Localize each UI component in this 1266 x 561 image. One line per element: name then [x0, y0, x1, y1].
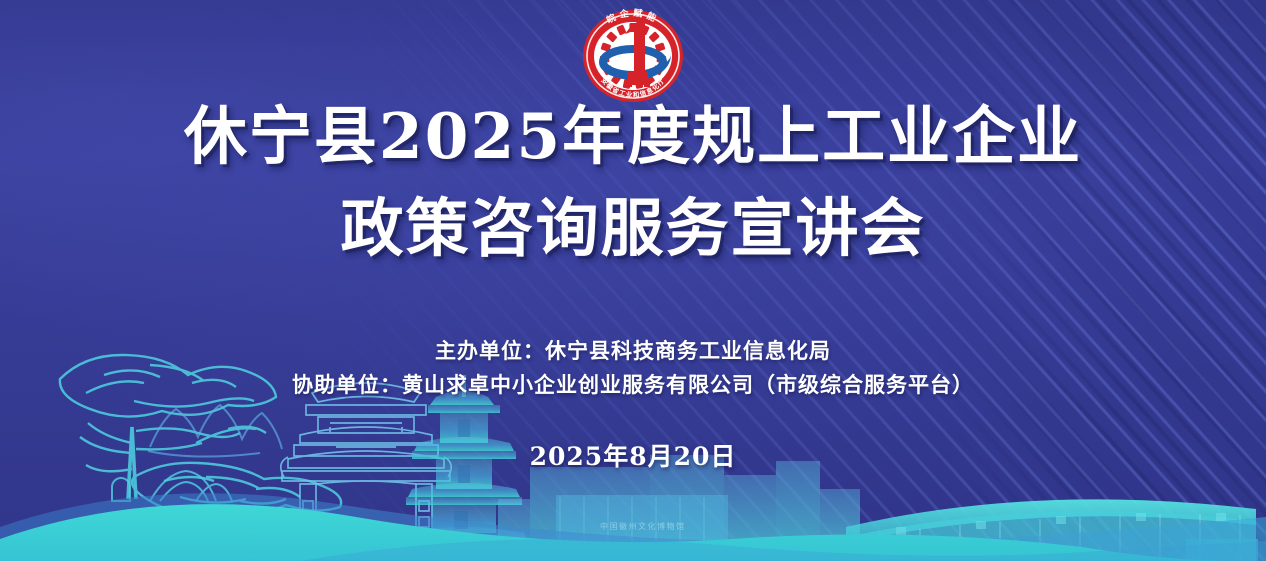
- event-date: 2025年8月20日: [0, 437, 1266, 473]
- title-line-2: 政策咨询服务宣讲会: [0, 196, 1266, 260]
- host-organization-line: 主办单位：休宁县科技商务工业信息化局: [0, 334, 1266, 368]
- organizer-block: 主办单位：休宁县科技商务工业信息化局 协助单位：黄山求卓中小企业创业服务有限公司…: [0, 334, 1266, 402]
- building-plaque-text: 中国徽州文化博物馆: [600, 521, 686, 531]
- title-line-1: 休宁县2025年度规上工业企业: [0, 104, 1266, 168]
- support-organization-line: 协助单位：黄山求卓中小企业创业服务有限公司（市级综合服务平台）: [0, 368, 1266, 402]
- organization-logo: 皖企赋能 安徽省工业和信息化厅: [571, 6, 695, 102]
- event-poster: 中国徽州文化博物馆: [0, 0, 1266, 561]
- page-title: 休宁县2025年度规上工业企业 政策咨询服务宣讲会: [0, 104, 1266, 261]
